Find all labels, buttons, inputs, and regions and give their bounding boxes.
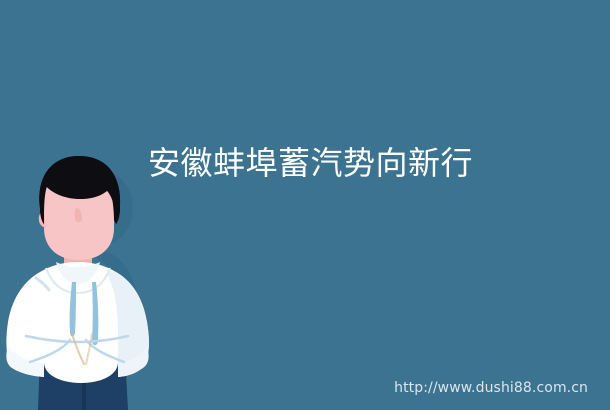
- person-illustration: [0, 150, 170, 410]
- head: [39, 156, 120, 260]
- headline-text: 安徽蚌埠蓄汽势向新行: [148, 140, 488, 186]
- source-url-watermark: http://www.dushi88.com.cn: [394, 380, 588, 396]
- image-canvas: 安徽蚌埠蓄汽势向新行 http://www.dushi88.com.cn: [0, 0, 610, 410]
